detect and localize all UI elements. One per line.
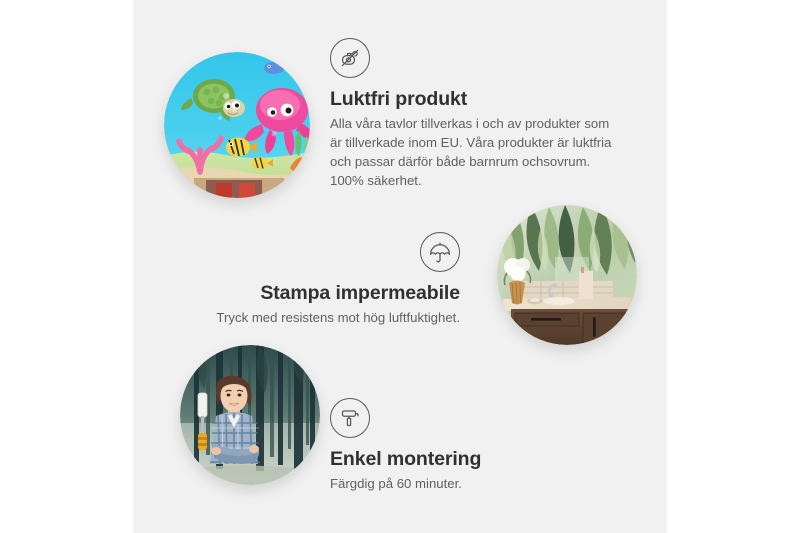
feature-waterproof: Stampa impermeabile Tryck med resistens … bbox=[210, 232, 460, 328]
feature-description: Alla våra tavlor tillverkas i och av pro… bbox=[330, 115, 624, 190]
feature-title: Enkel montering bbox=[330, 448, 560, 470]
feature-odorless: Luktfri produkt Alla våra tavlor tillver… bbox=[330, 38, 624, 190]
feature-description: Färgdig på 60 minuter. bbox=[330, 475, 560, 494]
promo-banner: Luktfri produkt Alla våra tavlor tillver… bbox=[0, 0, 800, 533]
umbrella-icon bbox=[420, 232, 460, 272]
paint-roller-icon bbox=[330, 398, 370, 438]
feature-title: Stampa impermeabile bbox=[210, 282, 460, 304]
image-woman-paint-roller-forest bbox=[180, 345, 320, 485]
feature-assembly: Enkel montering Färgdig på 60 minuter. bbox=[330, 398, 560, 494]
feature-description: Tryck med resistens mot hög luftfuktighe… bbox=[210, 309, 460, 328]
feature-title: Luktfri produkt bbox=[330, 88, 624, 110]
image-bathroom-botanical-wallpaper bbox=[497, 205, 637, 345]
image-underwater-scene bbox=[164, 52, 310, 198]
no-odor-perfume-bottle-icon bbox=[330, 38, 370, 78]
